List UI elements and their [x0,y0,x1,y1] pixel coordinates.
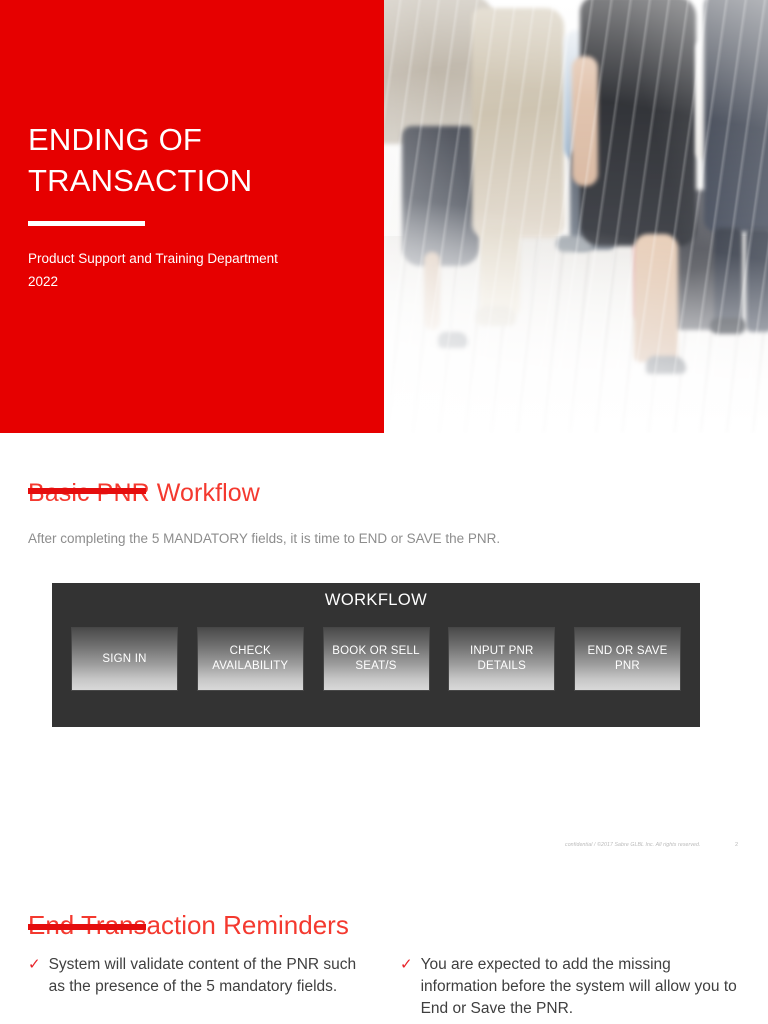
workflow-slide: Basic PNR Workflow After completing the … [0,433,768,866]
photo-figure-cardigan-woman-leg [424,252,440,330]
photo-figure-black-dress-heel [646,356,686,374]
section-heading-underline [28,488,146,494]
reminders-bullet-list: ✓ System will validate content of the PN… [28,954,740,1020]
workflow-step-end-or-save-pnr: END OR SAVE PNR [575,628,680,690]
footer-page-number: 2 [735,842,738,848]
hero-photo [384,0,768,433]
photo-figure-black-dress-leg [634,234,678,362]
photo-figure-suit-man [704,0,768,232]
workflow-step-row: SIGN IN CHECK AVAILABILITY BOOK OR SELL … [72,628,680,690]
list-item-text: You are expected to add the missing info… [421,954,740,1020]
reminders-heading-underline [28,924,146,930]
workflow-step-check-availability: CHECK AVAILABILITY [198,628,303,690]
checkmark-icon: ✓ [28,954,41,1020]
page-title: ENDING OF TRANSACTION [28,119,358,201]
photo-figure-cardigan-woman-shoe [438,332,468,348]
workflow-step-book-or-sell-seats: BOOK OR SELL SEAT/S [324,628,429,690]
photo-figure-suit-man-shoe [710,318,746,334]
list-item: ✓ You are expected to add the missing in… [400,954,740,1020]
reminders-slide: End Transaction Reminders ✓ System will … [0,866,768,1024]
photo-figure-trenchcoat-person [472,8,564,238]
section-lead-text: After completing the 5 MANDATORY fields,… [28,529,500,549]
workflow-step-sign-in: SIGN IN [72,628,177,690]
photo-figure-cardigan-woman-skirt [402,126,480,266]
photo-figure-trenchcoat-shoe [476,306,516,326]
workflow-step-input-pnr-details: INPUT PNR DETAILS [449,628,554,690]
photo-figure-suit-man-leg-right [746,228,768,332]
footer-copyright: confidential / ©2017 Sabre GLBL Inc. All… [565,842,701,848]
list-item: ✓ System will validate content of the PN… [28,954,368,1020]
title-divider [28,221,145,226]
photo-figure-suit-man-leg-left [714,228,742,328]
title-slide: ENDING OF TRANSACTION Product Support an… [0,0,768,433]
photo-figure-trenchcoat-leg [480,226,520,316]
title-red-panel [0,0,384,433]
workflow-diagram-title: WORKFLOW [52,591,700,610]
checkmark-icon: ✓ [400,954,413,1020]
photo-figure-black-dress-arm [572,56,598,186]
title-subtitle: Product Support and Training Department … [28,247,368,293]
workflow-diagram: WORKFLOW SIGN IN CHECK AVAILABILITY BOOK… [52,583,700,727]
list-item-text: System will validate content of the PNR … [49,954,368,1020]
